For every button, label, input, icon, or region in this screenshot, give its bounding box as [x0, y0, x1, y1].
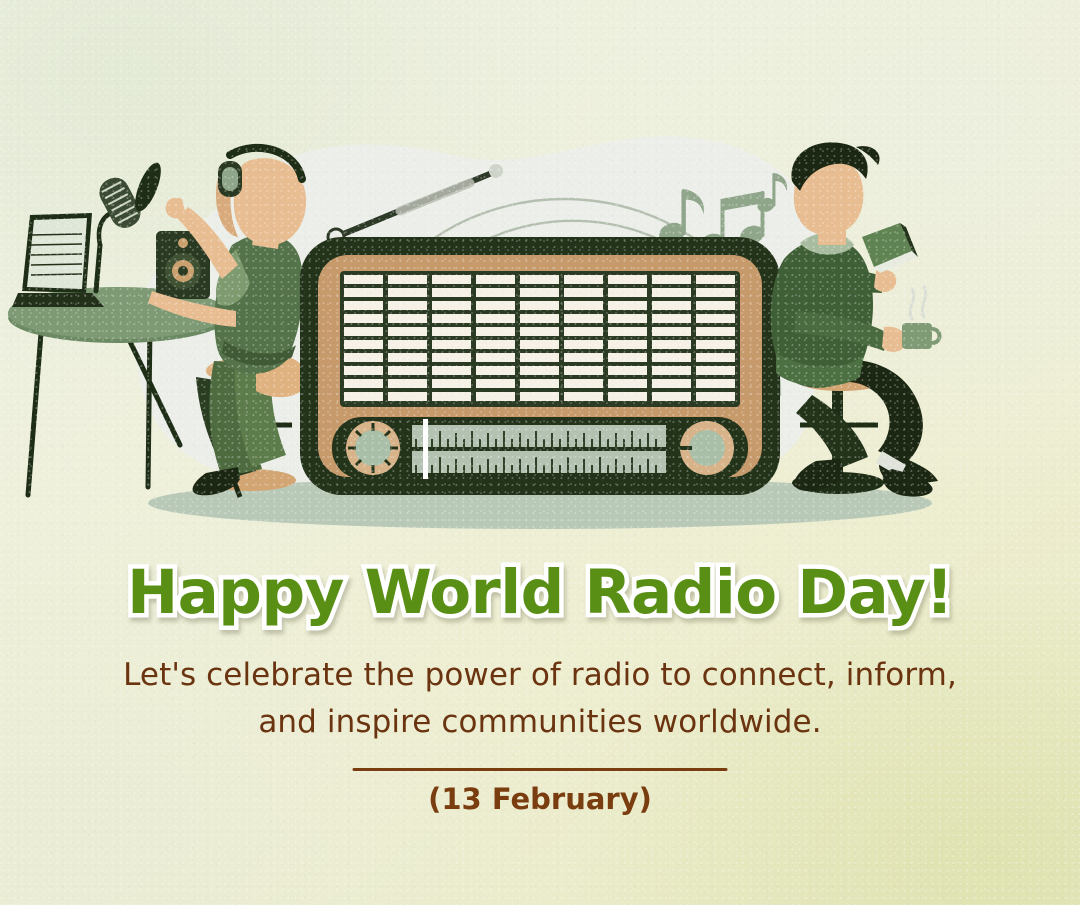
woman-podcaster-scene: [8, 148, 307, 497]
man-reading-scene: [771, 142, 940, 496]
microphone: [94, 160, 166, 291]
knob-left: [346, 421, 400, 475]
page-title: Happy World Radio Day!: [0, 557, 1080, 628]
mug: [902, 287, 940, 349]
knob-right: [680, 421, 734, 475]
subtitle-line-2: and inspire communities worldwide.: [0, 699, 1080, 746]
subtitle-line-1: Let's celebrate the power of radio to co…: [0, 652, 1080, 699]
radio-illustration: [0, 95, 1080, 555]
book: [862, 223, 918, 273]
dial-needle: [423, 419, 428, 479]
date-label: (13 February): [0, 782, 1080, 816]
subtitle: Let's celebrate the power of radio to co…: [0, 652, 1080, 746]
divider: [353, 768, 728, 771]
world-radio-day-poster: Happy World Radio Day! Let's celebrate t…: [0, 0, 1080, 905]
